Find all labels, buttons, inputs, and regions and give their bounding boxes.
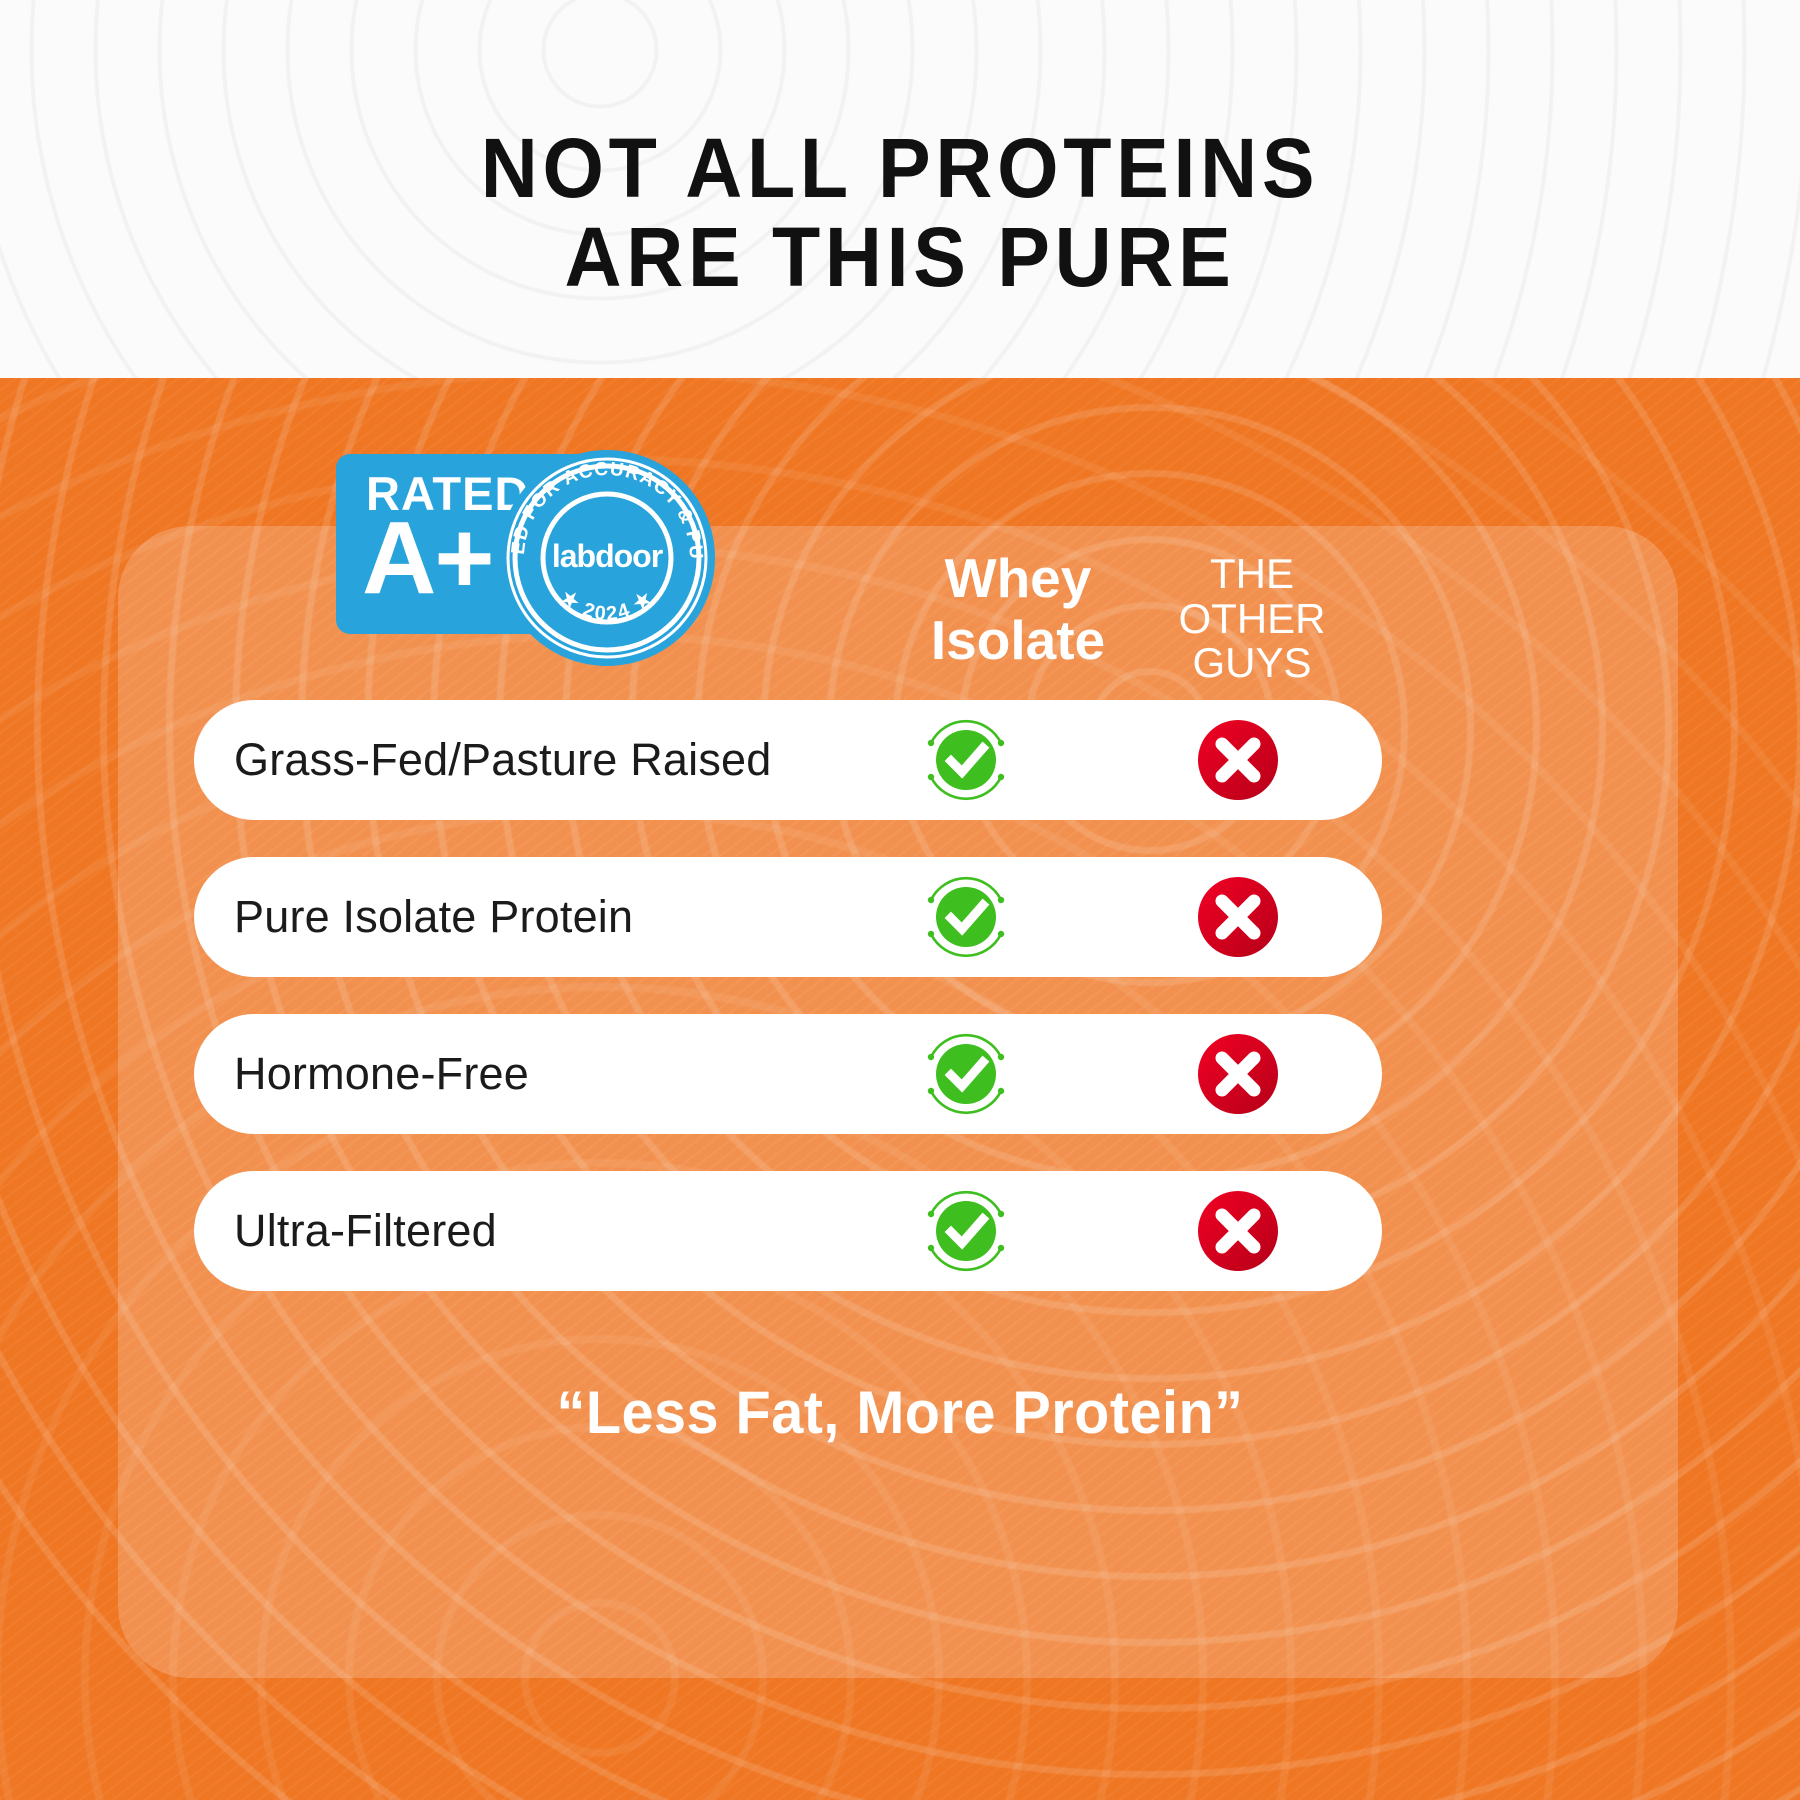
page-title: NOT ALL PROTEINS ARE THIS PURE <box>54 124 1746 302</box>
cell-other-guys <box>1158 876 1318 958</box>
column-header-ours-line-2: Isolate <box>931 609 1105 671</box>
feature-label: Ultra-Filtered <box>234 1205 497 1257</box>
cell-whey-isolate <box>886 1027 1046 1121</box>
column-header-whey-isolate: Whey Isolate <box>883 548 1153 671</box>
cell-other-guys <box>1158 719 1318 801</box>
check-circle-icon <box>919 1184 1013 1278</box>
cross-circle-icon <box>1197 719 1279 801</box>
cell-whey-isolate <box>886 713 1046 807</box>
labdoor-badge: RATED A+ TESTED FOR ACCURACY & PURITY ★ … <box>336 448 746 668</box>
feature-row-list: Grass-Fed/Pasture Raised <box>194 700 1382 1328</box>
feature-label: Pure Isolate Protein <box>234 891 633 943</box>
labdoor-seal-icon: TESTED FOR ACCURACY & PURITY ★ 2024 ★ la… <box>497 448 717 668</box>
tagline: “Less Fat, More Protein” <box>36 1378 1764 1447</box>
svg-text:labdoor: labdoor <box>552 538 663 574</box>
cell-other-guys <box>1158 1190 1318 1272</box>
headline-line-1: NOT ALL PROTEINS <box>481 121 1320 215</box>
table-row: Ultra-Filtered <box>194 1171 1382 1291</box>
cell-other-guys <box>1158 1033 1318 1115</box>
table-row: Grass-Fed/Pasture Raised <box>194 700 1382 820</box>
check-circle-icon <box>919 870 1013 964</box>
promo-poster: NOT ALL PROTEINS ARE THIS PURE RATED A+ <box>0 0 1800 1800</box>
table-row: Pure Isolate Protein <box>194 857 1382 977</box>
feature-label: Hormone-Free <box>234 1048 529 1100</box>
cross-circle-icon <box>1197 1190 1279 1272</box>
cross-circle-icon <box>1197 1033 1279 1115</box>
feature-label: Grass-Fed/Pasture Raised <box>234 734 772 786</box>
badge-grade-value: A+ <box>362 506 493 609</box>
column-header-theirs-line-2: OTHER <box>1152 597 1352 642</box>
column-header-theirs-line-1: THE <box>1152 552 1352 597</box>
column-header-ours-line-1: Whey <box>945 547 1092 609</box>
cross-circle-icon <box>1197 876 1279 958</box>
cell-whey-isolate <box>886 870 1046 964</box>
table-row: Hormone-Free <box>194 1014 1382 1134</box>
cell-whey-isolate <box>886 1184 1046 1278</box>
column-header-theirs-line-3: GUYS <box>1152 641 1352 686</box>
check-circle-icon <box>919 713 1013 807</box>
check-circle-icon <box>919 1027 1013 1121</box>
column-header-other-guys: THE OTHER GUYS <box>1152 552 1352 686</box>
headline-line-2: ARE THIS PURE <box>54 213 1746 302</box>
